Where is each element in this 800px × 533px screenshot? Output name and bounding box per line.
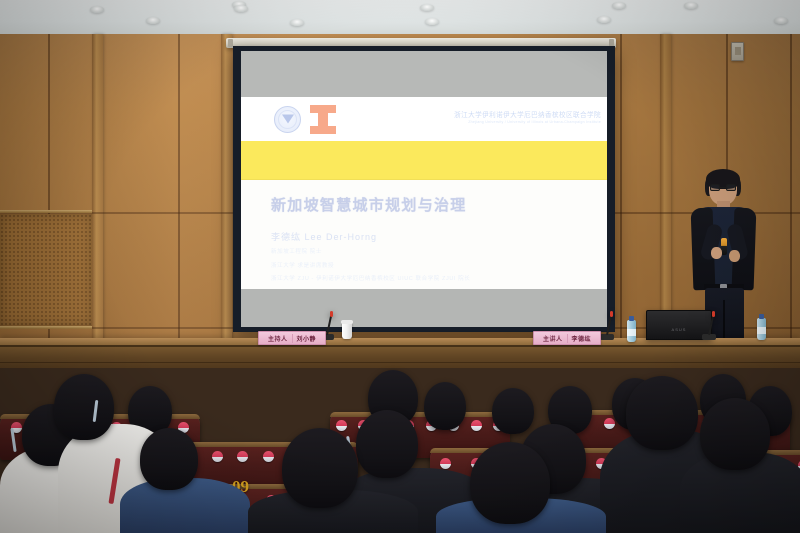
presenter-glasses <box>710 184 736 191</box>
presenter-hand <box>711 247 722 259</box>
ceiling-downlight <box>597 16 611 23</box>
institute-name-cn: 浙江大学伊利诺伊大学厄巴纳香槟校区联合学院 <box>454 109 601 119</box>
nametag-name: 刘小静 <box>297 334 317 343</box>
water-cup[interactable] <box>342 322 352 339</box>
seat-button <box>336 420 347 431</box>
slide-title: 新加坡智慧城市规划与治理 <box>271 194 607 215</box>
slide-speaker-name: 李德纮 Lee Der-Horng <box>271 230 607 243</box>
audience-head <box>282 428 358 508</box>
ceiling-downlight <box>146 17 160 24</box>
gooseneck-microphone[interactable] <box>702 310 728 340</box>
slide-affiliation-1: 新加坡工程院 院士 <box>271 248 607 257</box>
ceiling-downlight <box>234 5 248 12</box>
illinois-block-i-icon <box>310 105 336 134</box>
audience-head <box>626 376 698 450</box>
ceiling-downlight <box>90 6 104 13</box>
institute-name-en: Zhejiang University / University of Illi… <box>468 120 601 124</box>
seat-button <box>263 451 274 462</box>
ceiling-downlight <box>684 2 698 9</box>
panel-seam <box>178 34 180 364</box>
screen-surface: 浙江大学伊利诺伊大学厄巴纳香槟校区联合学院 Zhejiang Universit… <box>241 51 607 327</box>
nametag-host: 主持人 刘小静 <box>258 331 326 345</box>
audience-head <box>54 374 114 440</box>
slide-affiliation-2: 浙江大学 求是讲席教授 <box>271 262 607 271</box>
slide-affiliation-3: 浙江大学 ZJU - 伊利诺伊大学厄巴纳香槟校区 UIUC 联合学院 ZJUI … <box>271 275 607 284</box>
slide-body: 新加坡智慧城市规划与治理 李德纮 Lee Der-Horng 新加坡工程院 院士… <box>241 180 607 284</box>
audience-head <box>424 382 466 430</box>
ceiling-downlight <box>420 4 434 11</box>
water-bottle[interactable] <box>627 320 636 342</box>
seat-button <box>440 458 451 469</box>
audience-head <box>140 428 198 490</box>
seat-button <box>471 420 482 431</box>
audience-head <box>492 388 534 434</box>
ceiling-downlight <box>612 2 626 9</box>
brass-trim <box>0 326 92 329</box>
wall-switch-plate[interactable] <box>731 42 744 61</box>
ceiling-downlight <box>290 19 304 26</box>
audience-head <box>356 410 418 478</box>
water-bottle[interactable] <box>757 318 766 340</box>
ceiling <box>0 0 800 36</box>
nametag-name: 李德纮 <box>572 334 592 343</box>
brass-trim <box>0 210 92 213</box>
projection-screen: 浙江大学伊利诺伊大学厄巴纳香槟校区联合学院 Zhejiang Universit… <box>233 46 615 332</box>
desk-edge <box>0 345 800 347</box>
panel-seam <box>48 34 50 364</box>
seat-button <box>212 451 223 462</box>
seat-button <box>237 451 248 462</box>
nametag-role: 主讲人 <box>543 334 563 343</box>
panel-seam <box>790 34 792 364</box>
ceiling-downlight <box>425 18 439 25</box>
projected-slide: 浙江大学伊利诺伊大学厄巴纳香槟校区联合学院 Zhejiang Universit… <box>241 97 607 289</box>
laptop-brand-label: ASUS <box>672 327 687 332</box>
acoustic-perforated-panel <box>0 214 92 326</box>
seat-button <box>604 418 615 429</box>
nametag-speaker: 主讲人 李德纮 <box>533 331 601 345</box>
audience-head <box>470 442 550 524</box>
wall-pilaster <box>92 34 103 364</box>
nametag-role: 主持人 <box>268 334 288 343</box>
zju-seal-icon <box>274 106 301 133</box>
letterbox-band-bottom <box>241 289 607 327</box>
gooseneck-microphone[interactable] <box>600 312 626 340</box>
wall-pilaster <box>221 34 232 364</box>
desk-skirt-line <box>0 362 800 363</box>
slide-header: 浙江大学伊利诺伊大学厄巴纳香槟校区联合学院 Zhejiang Universit… <box>241 97 607 141</box>
slide-accent-band <box>241 141 607 180</box>
presenter-hand <box>729 250 740 262</box>
lecture-hall-photo: 浙江大学伊利诺伊大学厄巴纳香槟校区联合学院 Zhejiang Universit… <box>0 0 800 533</box>
letterbox-band-top <box>241 51 607 97</box>
audience-head <box>700 398 770 470</box>
ceiling-downlight <box>774 17 788 24</box>
